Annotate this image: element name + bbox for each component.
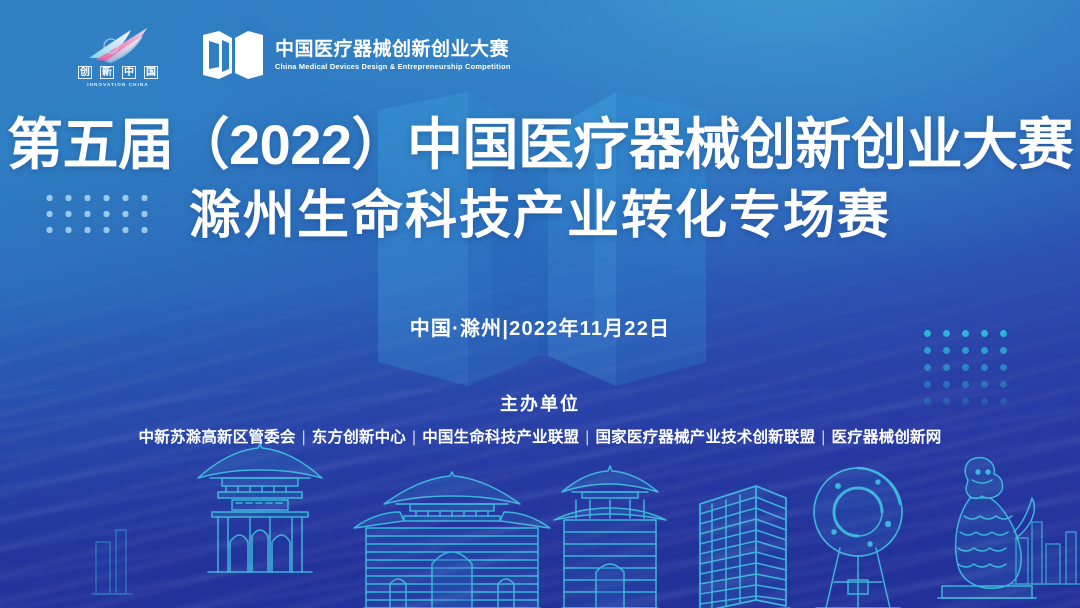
logo-char-1: 新 (100, 66, 114, 79)
innovation-china-logo: 创 新 中 国 INNOVATION CHINA (64, 24, 172, 87)
host-name: 中新苏滁高新区管委会 (139, 429, 296, 446)
open-book-icon (202, 29, 264, 81)
location-date-line: 中国·滁州|2022年11月22日 (0, 312, 1080, 341)
logo-char-0: 创 (78, 66, 92, 79)
host-separator: | (815, 429, 831, 446)
title-block: 第五届（2022）中国医疗器械创新创业大赛 滁州生命科技产业转化专场赛 (0, 114, 1080, 246)
host-separator: | (406, 429, 422, 446)
logo-char-2: 中 (122, 66, 136, 79)
header-logos: 创 新 中 国 INNOVATION CHINA 中国医疗器械创新创业大赛 Ch… (64, 24, 511, 86)
competition-logo: 中国医疗器械创新创业大赛 China Medical Devices Desig… (202, 29, 511, 81)
host-separator: | (296, 429, 312, 446)
event-banner: 创 新 中 国 INNOVATION CHINA 中国医疗器械创新创业大赛 Ch… (0, 0, 1080, 608)
bird-wing-icon (81, 24, 155, 64)
host-name: 中国生命科技产业联盟 (422, 429, 579, 446)
page-title: 第五届（2022）中国医疗器械创新创业大赛 (0, 114, 1080, 176)
logo-char-3: 国 (144, 66, 158, 79)
competition-logo-cn: 中国医疗器械创新创业大赛 (275, 39, 511, 60)
innovation-china-cn-chars: 创 新 中 国 (78, 66, 158, 79)
page-subtitle: 滁州生命科技产业转化专场赛 (0, 186, 1080, 246)
host-label: 主办单位 (0, 390, 1080, 416)
host-name: 东方创新中心 (312, 429, 406, 446)
host-name: 医疗器械创新网 (832, 429, 942, 446)
background-diagonal-stripes-secondary (0, 389, 1080, 608)
competition-logo-en: China Medical Devices Design & Entrepren… (275, 62, 511, 71)
host-separator: | (579, 429, 595, 446)
innovation-china-en-text: INNOVATION CHINA (87, 82, 149, 87)
host-name: 国家医疗器械产业技术创新联盟 (595, 429, 815, 446)
host-list: 中新苏滁高新区管委会|东方创新中心|中国生命科技产业联盟|国家医疗器械产业技术创… (0, 425, 1080, 447)
